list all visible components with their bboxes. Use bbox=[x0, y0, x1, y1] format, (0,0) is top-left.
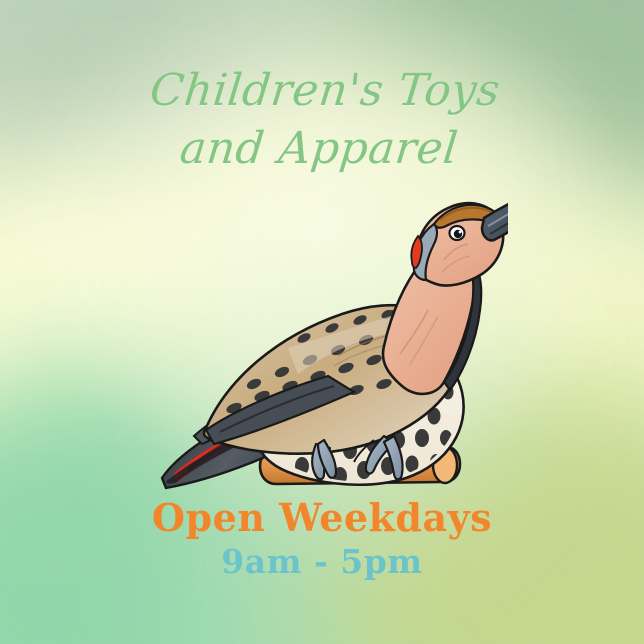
hours-headline: Open Weekdays bbox=[0, 498, 644, 538]
poster-footer: Open Weekdays 9am - 5pm bbox=[0, 498, 644, 580]
bird-illustration bbox=[148, 178, 508, 498]
headline-line-1: Children's Toys bbox=[148, 65, 503, 116]
headline-line-2: and Apparel bbox=[0, 120, 644, 178]
poster-headline: Children's Toys and Apparel bbox=[0, 62, 644, 178]
poster-canvas: Children's Toys and Apparel bbox=[0, 0, 644, 644]
bird-eye bbox=[450, 226, 465, 240]
bird-head bbox=[411, 187, 508, 285]
hours-detail: 9am - 5pm bbox=[0, 545, 644, 580]
